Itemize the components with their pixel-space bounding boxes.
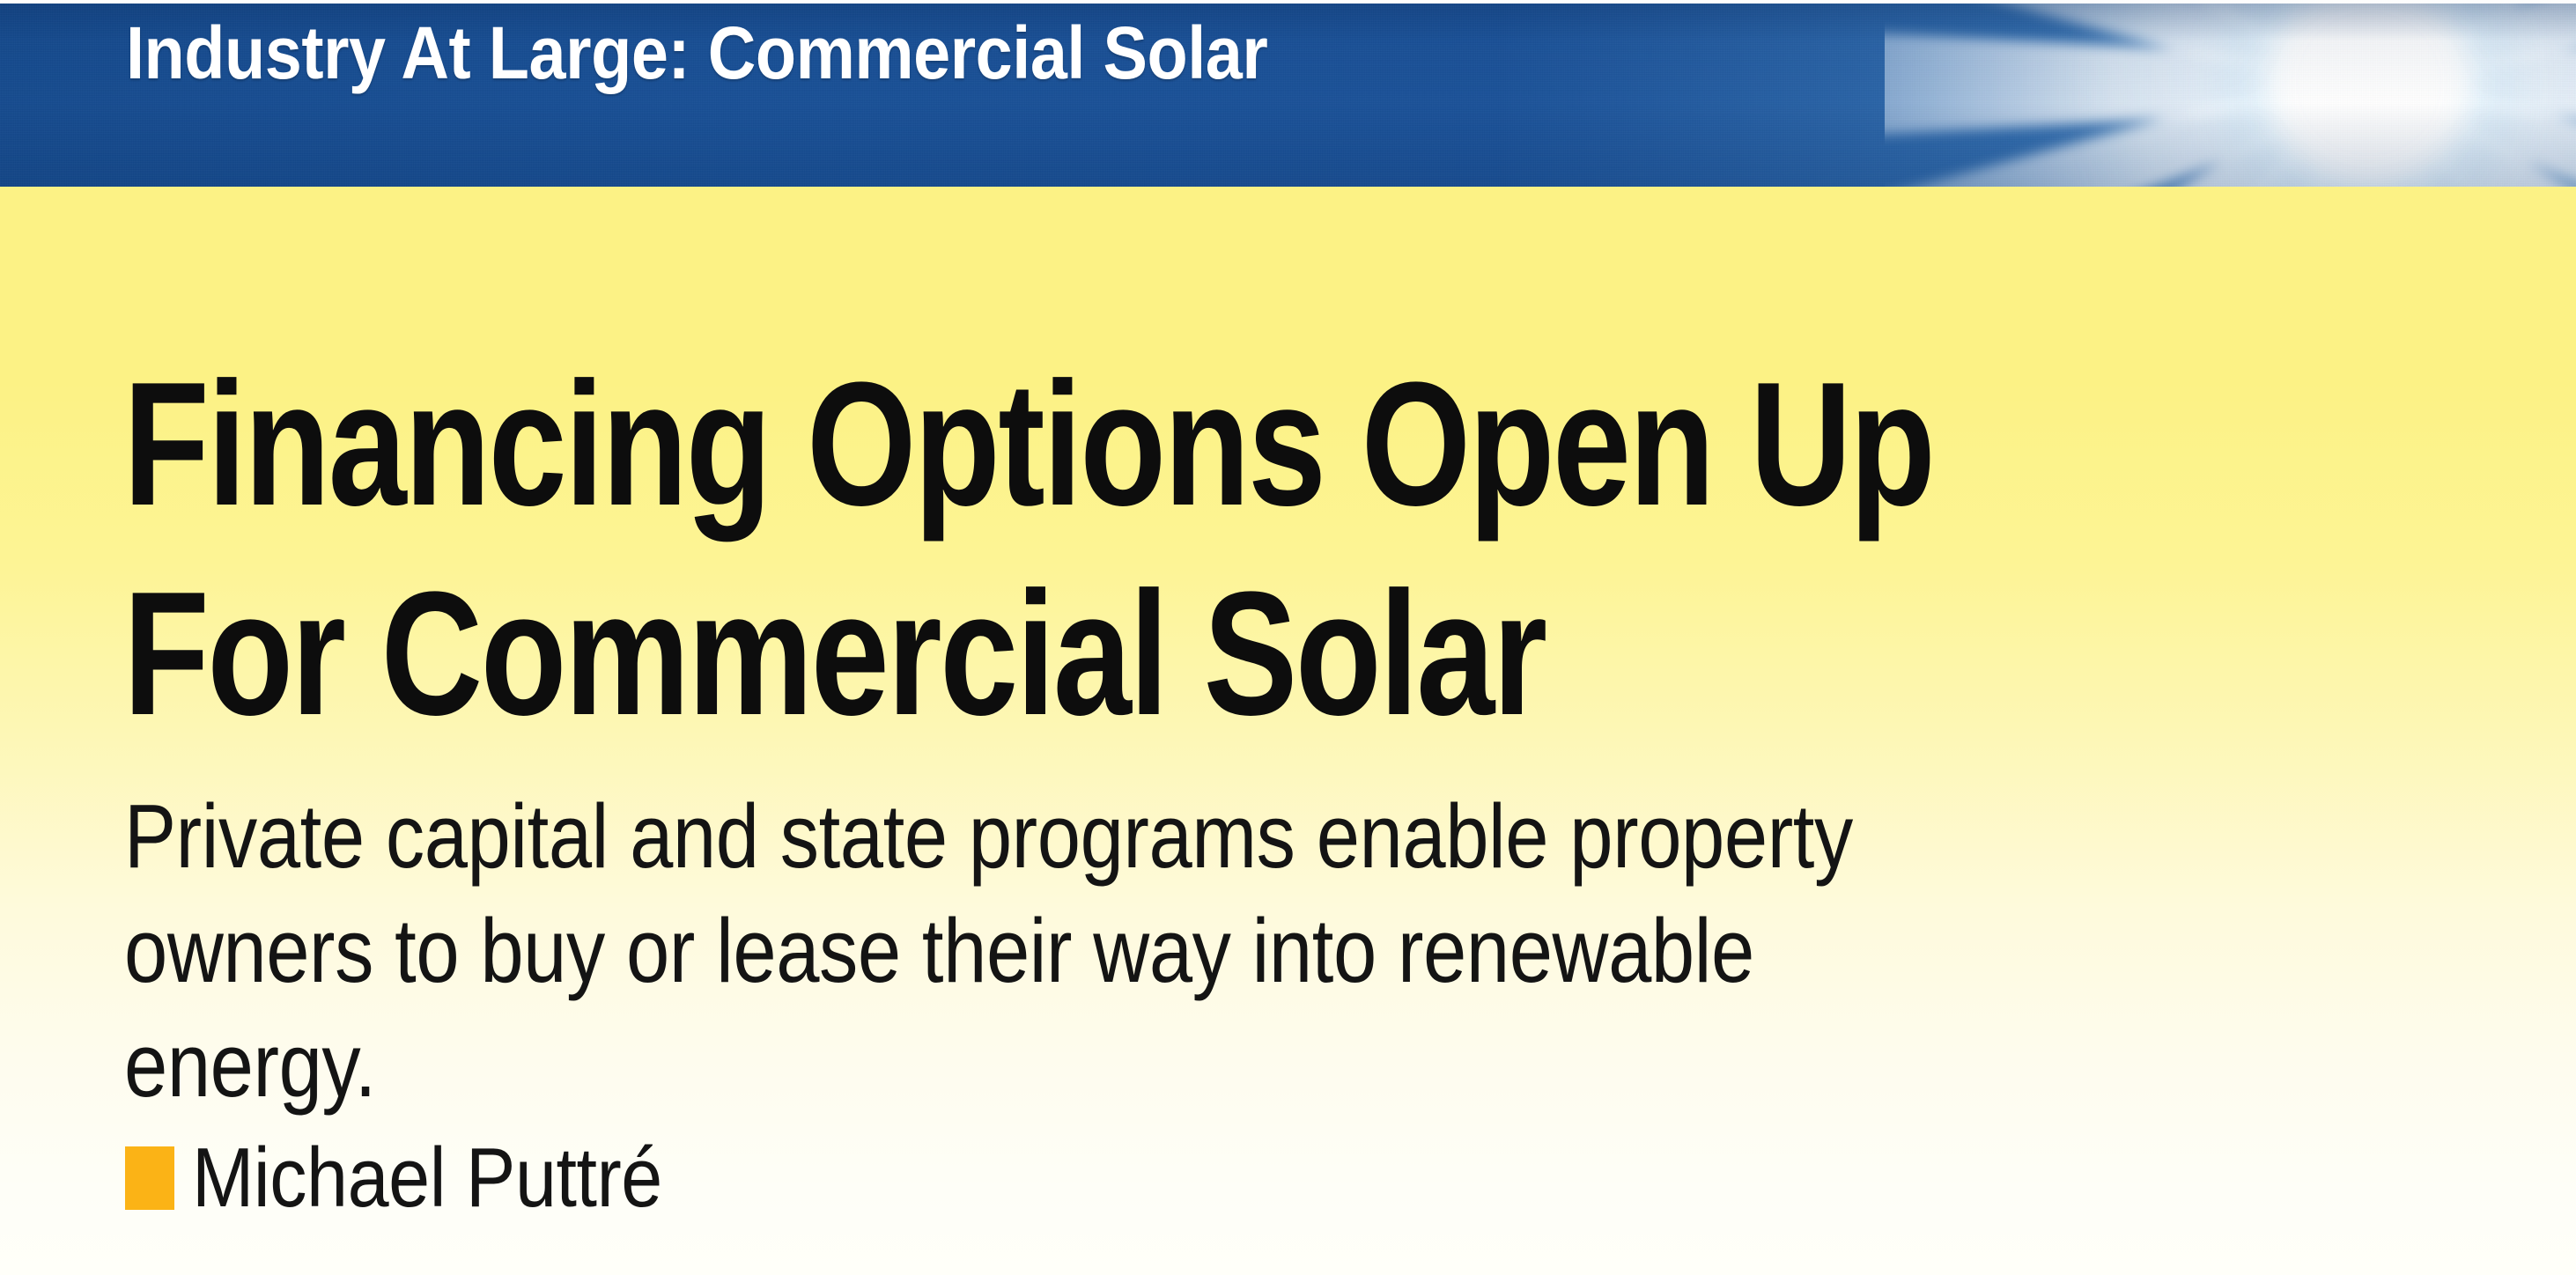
deck-line-3: energy. [124, 1008, 2169, 1123]
article-body-field: Financing Options Open Up For Commercial… [0, 187, 2576, 1275]
byline-swatch-icon [125, 1146, 174, 1210]
article-body-inner: Financing Options Open Up For Commercial… [0, 187, 2576, 1275]
deck-line-2: owners to buy or lease their way into re… [124, 894, 2169, 1008]
headline-line-2: For Commercial Solar [123, 549, 2026, 759]
article-deck: Private capital and state programs enabl… [124, 779, 2502, 1123]
byline-author-name: Michael Puttré [192, 1136, 662, 1220]
page-title: Financing Options Open Up For Commercial… [123, 340, 2501, 759]
top-edge-rule [0, 0, 2576, 4]
article-header-page: Industry At Large: Commercial Solar Fina… [0, 0, 2576, 1275]
headline-line-1: Financing Options Open Up [123, 340, 2026, 549]
deck-line-1: Private capital and state programs enabl… [124, 779, 2169, 894]
byline: Michael Puttré [125, 1136, 727, 1220]
kicker-label: Industry At Large: Commercial Solar [126, 16, 1711, 90]
